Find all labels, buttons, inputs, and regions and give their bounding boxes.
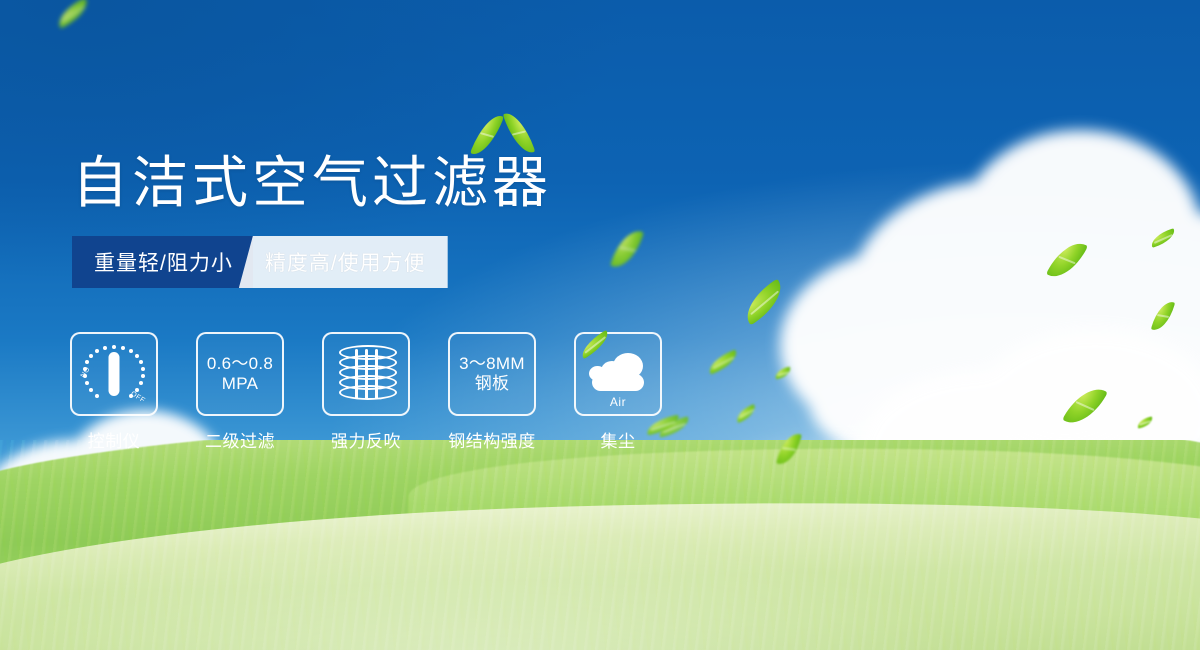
subtitle-right-label: 精度高/使用方便 [265,247,426,277]
feature-icon-box: 3～8MM 钢板 [448,332,536,416]
feature-label-strong-backblow: 强力反吹 [331,427,401,452]
feature-label-controller: 控制仪 [88,427,141,452]
grass-highlight [0,440,1200,650]
feature-item-controller[interactable]: NO OFF 控制仪 [72,332,156,452]
feature-icon-box [322,332,410,416]
page-title: 自洁式空气过滤器 [72,138,552,219]
feature-item-steel-strength[interactable]: 3～8MM 钢板 钢结构强度 [450,332,534,452]
feature-icon-box: Air [574,332,662,416]
steel-line-2: 钢板 [459,374,525,394]
hero-banner: 自洁式空气过滤器 重量轻/阻力小 精度高/使用方便 [0,0,1200,650]
steel-line-1: 3～8MM [459,354,525,373]
feature-list: NO OFF 控制仪 0.6～0.8 MPA 二级过滤 [72,332,660,452]
subtitle-right: 精度高/使用方便 [239,236,448,288]
coil-icon [339,345,393,403]
feature-icon-box: 0.6～0.8 MPA [196,332,284,416]
air-label: Air [587,395,649,409]
feature-item-two-stage-filter[interactable]: 0.6～0.8 MPA 二级过滤 [198,332,282,452]
gauge-no-label: NO [80,366,92,379]
feature-item-strong-backblow[interactable]: 强力反吹 [324,332,408,452]
grass-field [0,440,1200,650]
cloud-air-icon: Air [587,349,649,399]
gauge-off-label: OFF [129,390,146,404]
gauge-needle [109,352,120,396]
pressure-line-2: MPA [207,374,273,394]
feature-label-steel-strength: 钢结构强度 [448,427,536,452]
feature-label-dust-collection: 集尘 [601,427,636,452]
steel-text-icon: 3～8MM 钢板 [459,354,525,393]
gauge-icon: NO OFF [81,343,147,405]
subtitle-left: 重量轻/阻力小 [72,236,253,288]
feature-label-two-stage-filter: 二级过滤 [205,427,275,452]
pressure-text-icon: 0.6～0.8 MPA [207,354,273,393]
subtitle-bar: 重量轻/阻力小 精度高/使用方便 [72,236,448,288]
pressure-line-1: 0.6～0.8 [207,354,273,373]
feature-icon-box: NO OFF [70,332,158,416]
